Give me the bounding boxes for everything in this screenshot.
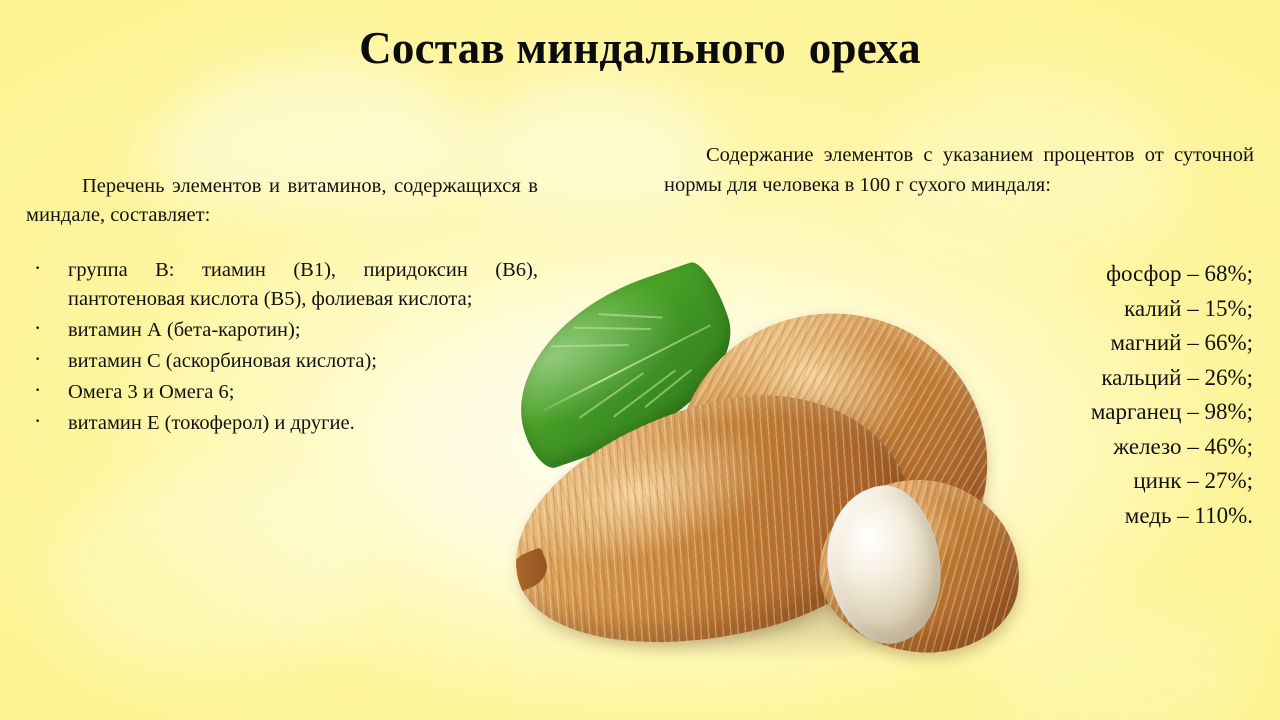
list-item: марганец – 98%;: [823, 395, 1253, 430]
list-item: кальций – 26%;: [823, 361, 1253, 396]
leaf-vein: [613, 369, 676, 417]
leaf-vein: [644, 369, 691, 408]
list-item: фосфор – 68%;: [823, 257, 1253, 292]
list-item: железо – 46%;: [823, 430, 1253, 465]
background-blob-5: [980, 600, 1240, 720]
list-item: цинк – 27%;: [823, 464, 1253, 499]
list-item: медь – 110%.: [823, 499, 1253, 534]
leaf-vein: [550, 344, 628, 347]
list-item: витамин Е (токоферол) и другие.: [26, 409, 538, 438]
list-item: витамин А (бета-каротин);: [26, 316, 538, 345]
page-title: Состав миндального ореха: [0, 22, 1280, 74]
list-item: витамин С (аскорбиновая кислота);: [26, 347, 538, 376]
vitamin-list: группа В: тиамин (В1), пиридоксин (В6), …: [26, 256, 538, 438]
almond-tip: [503, 547, 553, 594]
leaf-main-vein: [542, 324, 711, 412]
list-item: группа В: тиамин (В1), пиридоксин (В6), …: [26, 256, 538, 314]
left-lead-paragraph: Перечень элементов и витаминов, содержащ…: [26, 172, 538, 230]
mineral-percent-list: фосфор – 68%; калий – 15%; магний – 66%;…: [823, 257, 1253, 533]
drop-shadow: [530, 580, 1000, 658]
list-item: калий – 15%;: [823, 292, 1253, 327]
left-column: Перечень элементов и витаминов, содержащ…: [26, 172, 538, 440]
leaf-vein: [598, 313, 662, 318]
slide-canvas: Состав миндального ореха Перечень элемен…: [0, 0, 1280, 720]
leaf-vein: [574, 327, 652, 330]
right-lead-paragraph: Содержание элементов с указанием процент…: [664, 140, 1254, 200]
list-item: магний – 66%;: [823, 326, 1253, 361]
background-blob-3: [60, 470, 360, 670]
leaf-vein: [579, 372, 644, 418]
list-item: Омега 3 и Омега 6;: [26, 378, 538, 407]
